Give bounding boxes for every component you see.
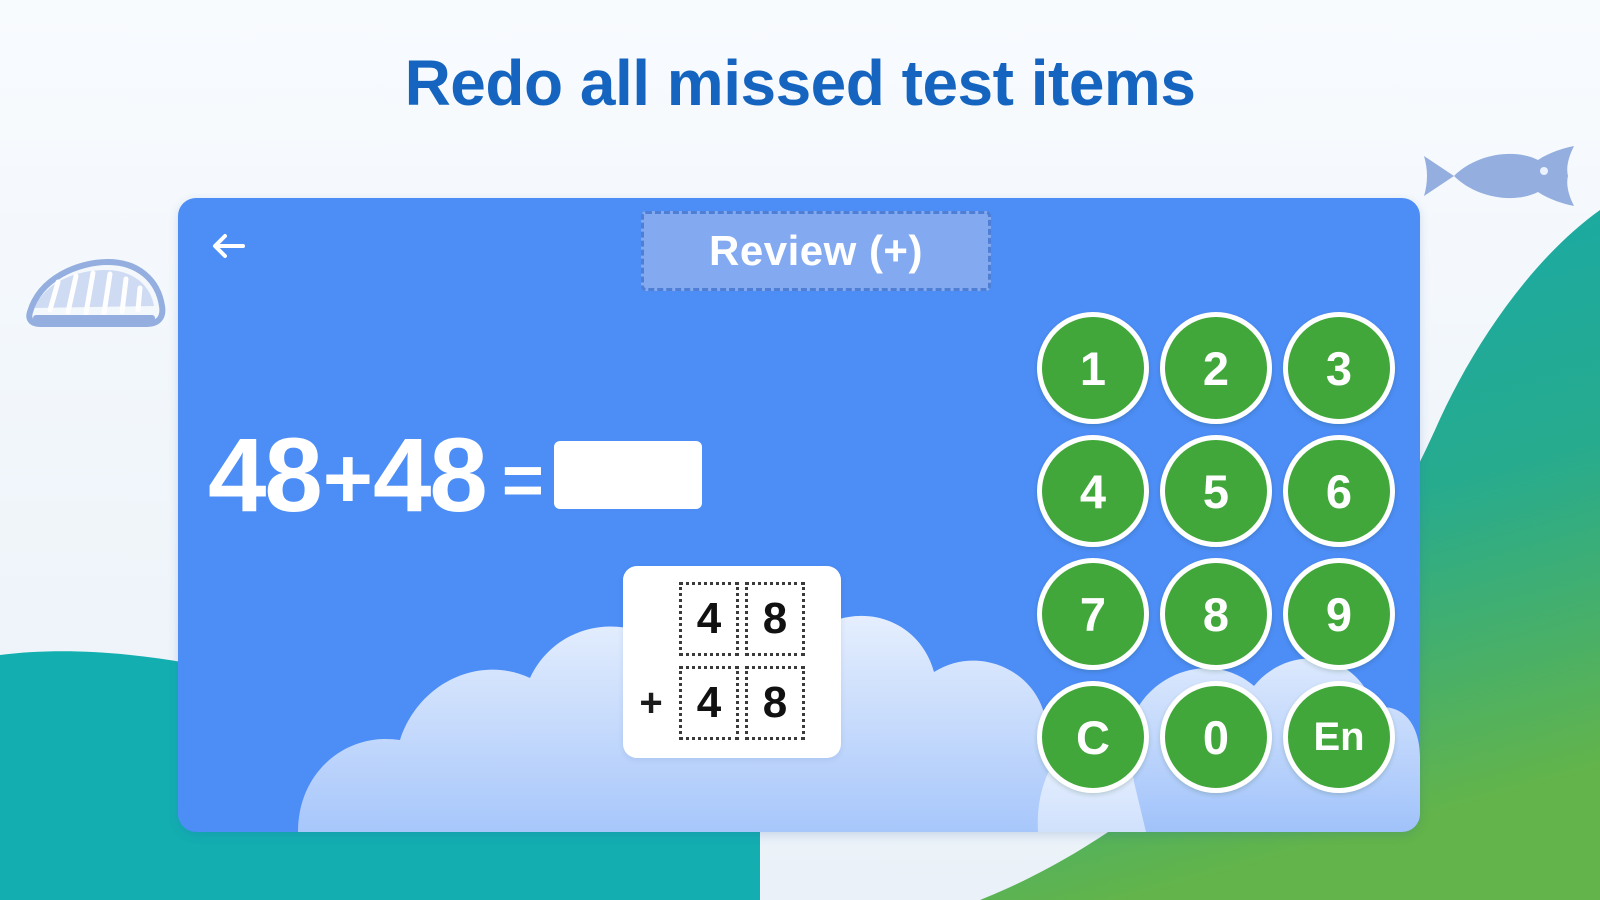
exercise-card: Review (+) 48 + 48 = 4 8 + 4 8 1 2 — [178, 198, 1420, 832]
key-9[interactable]: 9 — [1283, 558, 1395, 670]
answer-input[interactable] — [554, 441, 702, 509]
equation-equals-sign: = — [486, 445, 554, 517]
key-8[interactable]: 8 — [1160, 558, 1272, 670]
key-1[interactable]: 1 — [1037, 312, 1149, 424]
key-5[interactable]: 5 — [1160, 435, 1272, 547]
back-arrow-icon — [211, 231, 245, 261]
worksheet-cell-bottom-ones[interactable]: 8 — [745, 666, 805, 740]
key-6[interactable]: 6 — [1283, 435, 1395, 547]
equation-right-operand: 48 — [373, 423, 486, 528]
back-button[interactable] — [200, 220, 256, 272]
key-4[interactable]: 4 — [1037, 435, 1149, 547]
key-7[interactable]: 7 — [1037, 558, 1149, 670]
key-clear[interactable]: C — [1037, 681, 1149, 793]
worksheet-row-bottom: + 4 8 — [623, 664, 841, 742]
worksheet-cell-top-tens[interactable]: 4 — [679, 582, 739, 656]
equation-row: 48 + 48 = — [208, 420, 702, 530]
app-screen: Redo all missed test items — [0, 0, 1600, 900]
key-enter[interactable]: En — [1283, 681, 1395, 793]
worksheet-cell-top-ones[interactable]: 8 — [745, 582, 805, 656]
worksheet-row-top: 4 8 — [623, 580, 841, 658]
review-badge[interactable]: Review (+) — [641, 211, 991, 291]
key-2[interactable]: 2 — [1160, 312, 1272, 424]
numeric-keypad: 1 2 3 4 5 6 7 8 9 C 0 En — [1037, 312, 1395, 793]
column-addition-worksheet: 4 8 + 4 8 — [623, 566, 841, 758]
worksheet-cell-bottom-tens[interactable]: 4 — [679, 666, 739, 740]
equation-operator: + — [321, 436, 373, 522]
page-title: Redo all missed test items — [0, 46, 1600, 120]
worksheet-plus-sign: + — [623, 683, 679, 723]
key-0[interactable]: 0 — [1160, 681, 1272, 793]
equation-left-operand: 48 — [208, 423, 321, 528]
key-3[interactable]: 3 — [1283, 312, 1395, 424]
